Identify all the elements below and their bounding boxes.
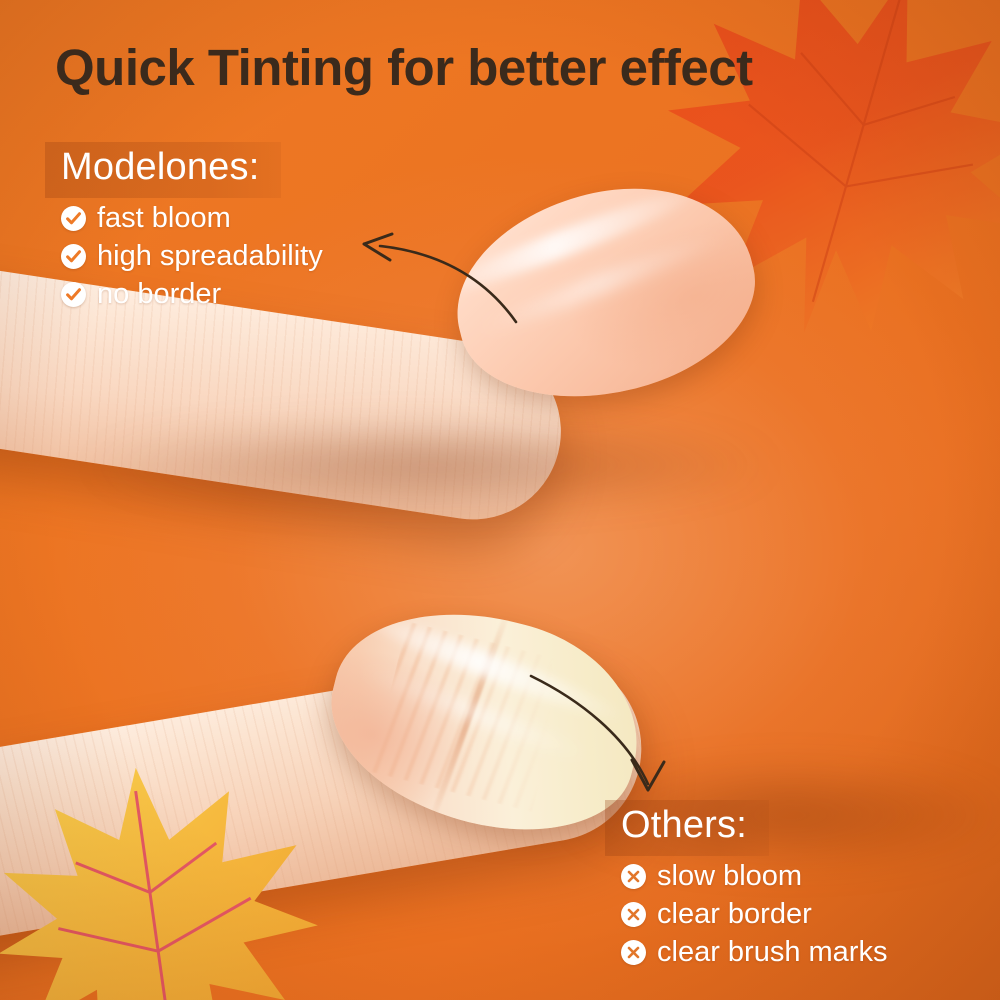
list-item: clear brush marks [621,938,887,967]
others-heading: Others: [605,800,769,856]
list-item: slow bloom [621,862,887,891]
modelones-list: fast bloom high spreadability no border [45,204,323,309]
page-title: Quick Tinting for better effect [55,38,753,97]
x-circle-icon [621,902,646,927]
feature-block-modelones: Modelones: fast bloom high spreadability… [45,142,323,318]
list-item-label: high spreadability [97,242,323,271]
feature-block-others: Others: slow bloom clear border clear br… [605,800,887,976]
list-item-label: clear border [657,900,812,929]
check-circle-icon [61,282,86,307]
list-item-label: slow bloom [657,862,802,891]
list-item: clear border [621,900,887,929]
x-circle-icon [621,864,646,889]
list-item-label: fast bloom [97,204,231,233]
check-circle-icon [61,206,86,231]
x-circle-icon [621,940,646,965]
list-item: high spreadability [61,242,323,271]
list-item-label: no border [97,280,221,309]
list-item: fast bloom [61,204,323,233]
check-circle-icon [61,244,86,269]
modelones-heading: Modelones: [45,142,281,198]
list-item-label: clear brush marks [657,938,887,967]
promo-poster: Quick Tinting for better effect Modelone… [0,0,1000,1000]
list-item: no border [61,280,323,309]
others-list: slow bloom clear border clear brush mark… [605,862,887,967]
